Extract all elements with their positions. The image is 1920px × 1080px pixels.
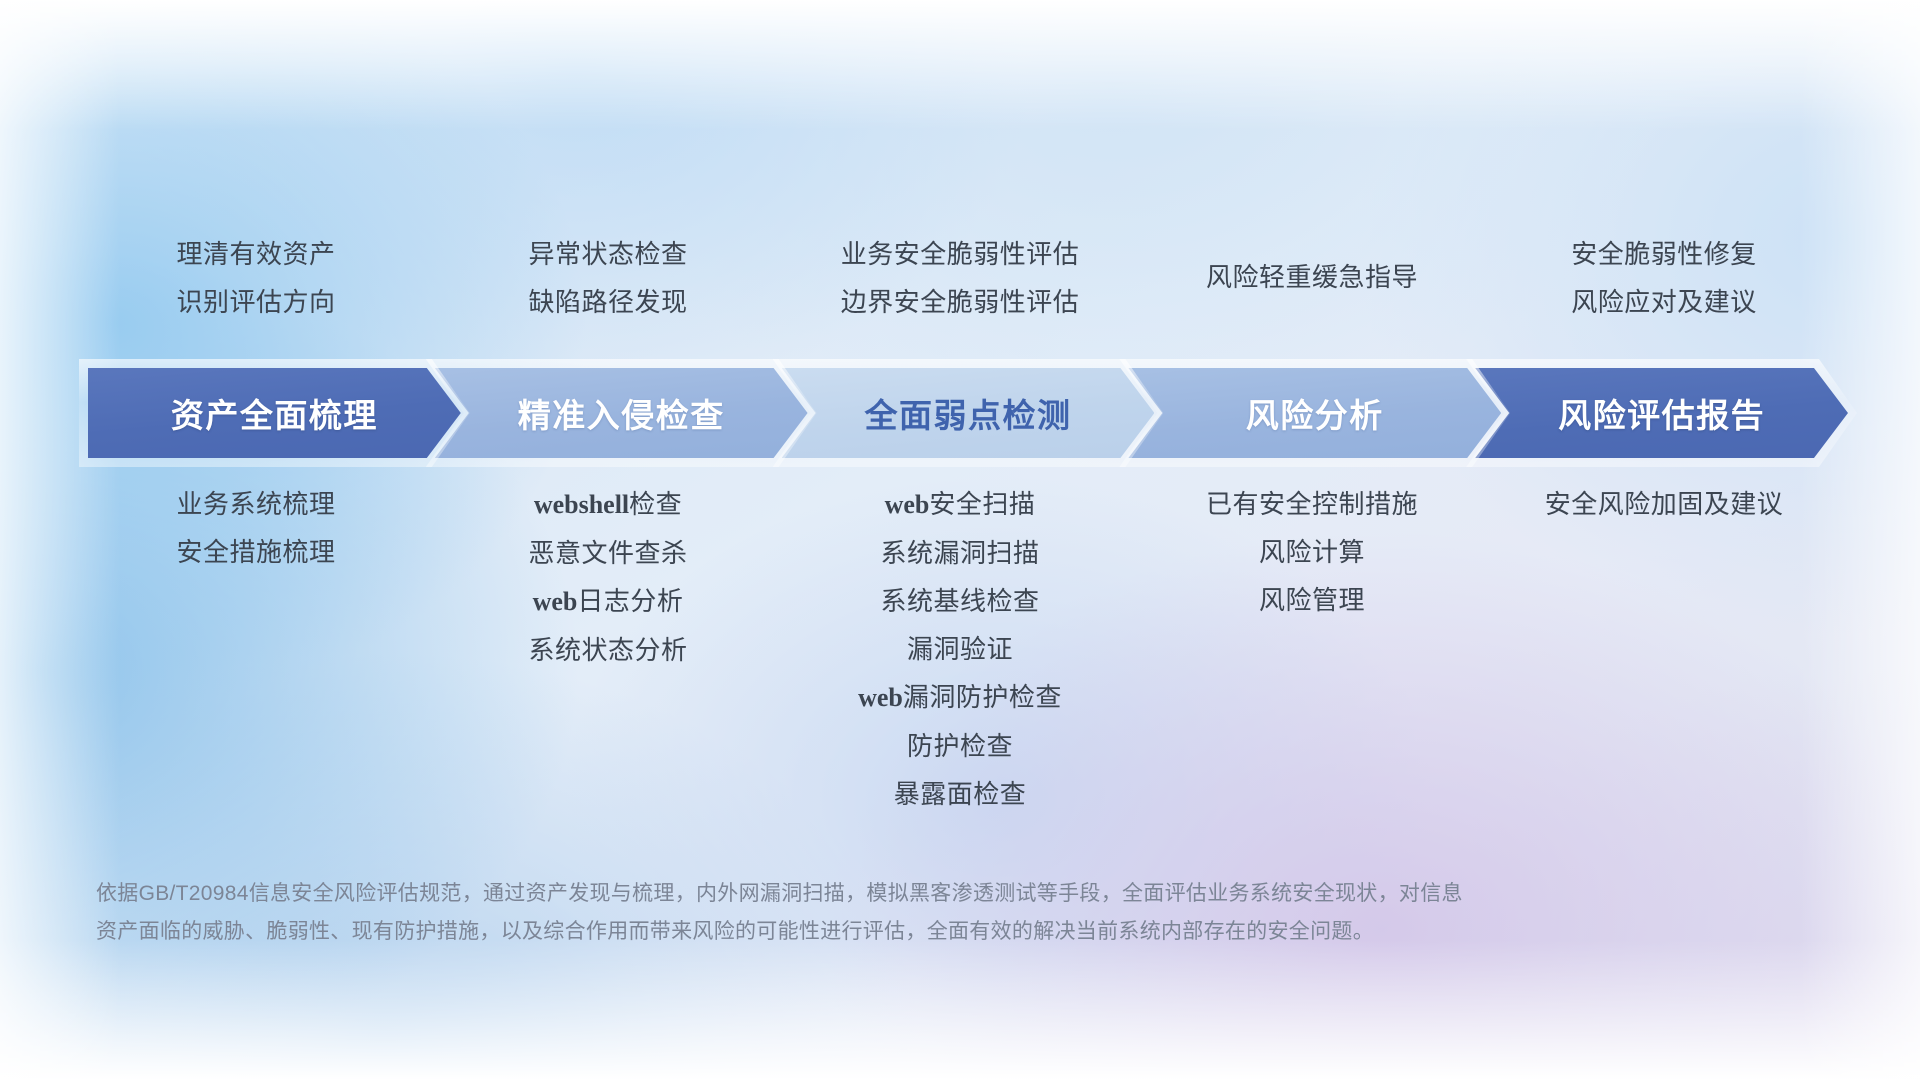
activity-text: 安全风险加固及建议 xyxy=(1545,489,1784,519)
stage-inputs-weakness-detection: 业务安全脆弱性评估边界安全脆弱性评估 xyxy=(784,230,1136,326)
stage-activity-item: 系统基线检查 xyxy=(880,577,1039,625)
stage-activities-asset-inventory: 业务系统梳理安全措施梳理 xyxy=(80,480,432,576)
process-step-weakness-detection[interactable]: 全面弱点检测 xyxy=(782,368,1155,458)
stage-activity-item: 恶意文件查杀 xyxy=(528,529,687,577)
stage-activities-weakness-detection: web安全扫描系统漏洞扫描系统基线检查漏洞验证web漏洞防护检查防护检查暴露面检… xyxy=(784,480,1136,818)
stage-activity-item: web安全扫描 xyxy=(885,480,1036,529)
activity-text: 漏洞验证 xyxy=(907,634,1013,664)
activity-text: 恶意文件查杀 xyxy=(528,538,687,568)
activity-prefix: web xyxy=(885,490,930,519)
stage-activity-item: 系统漏洞扫描 xyxy=(880,529,1039,577)
stage-input-item: 风险轻重缓急指导 xyxy=(1206,253,1418,301)
activity-text: 暴露面检查 xyxy=(894,779,1027,809)
stage-activity-item: 业务系统梳理 xyxy=(176,480,335,528)
stage-inputs-asset-inventory: 理清有效资产识别评估方向 xyxy=(80,230,432,326)
activity-text: 系统状态分析 xyxy=(528,635,687,665)
process-step-risk-analysis[interactable]: 风险分析 xyxy=(1128,368,1501,458)
stage-input-item: 识别评估方向 xyxy=(176,278,335,326)
activity-prefix: webshell xyxy=(534,490,629,519)
activity-text: 防护检查 xyxy=(907,731,1013,761)
stage-inputs-risk-analysis: 风险轻重缓急指导 xyxy=(1136,230,1488,301)
stage-input-item: 异常状态检查 xyxy=(528,230,687,278)
stage-activities-row: 业务系统梳理安全措施梳理webshell检查恶意文件查杀web日志分析系统状态分… xyxy=(80,480,1840,818)
stage-activity-item: 风险计算 xyxy=(1259,528,1365,576)
stage-activity-item: 漏洞验证 xyxy=(907,625,1013,673)
process-step-label: 精准入侵检查 xyxy=(518,389,725,437)
footer-description: 依据GB/T20984信息安全风险评估规范，通过资产发现与梳理，内外网漏洞扫描，… xyxy=(96,875,1626,951)
stage-activity-item: 安全措施梳理 xyxy=(176,528,335,576)
background-glow-bottom xyxy=(0,940,1920,1080)
activity-text: 检查 xyxy=(629,489,682,519)
stage-input-item: 安全脆弱性修复 xyxy=(1571,230,1757,278)
stage-activities-intrusion-check: webshell检查恶意文件查杀web日志分析系统状态分析 xyxy=(432,480,784,674)
activity-text: 风险管理 xyxy=(1259,585,1365,615)
stage-activity-item: 已有安全控制措施 xyxy=(1206,480,1418,528)
stage-activity-item: 暴露面检查 xyxy=(894,770,1027,818)
activity-text: 已有安全控制措施 xyxy=(1206,489,1418,519)
slide-canvas: 理清有效资产识别评估方向异常状态检查缺陷路径发现业务安全脆弱性评估边界安全脆弱性… xyxy=(0,0,1920,1080)
stage-activity-item: 安全风险加固及建议 xyxy=(1545,480,1784,528)
stage-activity-item: web日志分析 xyxy=(533,577,684,626)
stage-input-item: 业务安全脆弱性评估 xyxy=(841,230,1080,278)
stage-input-item: 缺陷路径发现 xyxy=(528,278,687,326)
activity-text: 安全措施梳理 xyxy=(176,537,335,567)
stage-activity-item: 防护检查 xyxy=(907,722,1013,770)
stage-activity-item: webshell检查 xyxy=(534,480,682,529)
footer-line: 资产面临的威胁、脆弱性、现有防护措施，以及综合作用而带来风险的可能性进行评估，全… xyxy=(96,913,1626,951)
stage-input-item: 风险应对及建议 xyxy=(1571,278,1757,326)
activity-prefix: web xyxy=(533,587,578,616)
stage-inputs-risk-report: 安全脆弱性修复风险应对及建议 xyxy=(1488,230,1840,326)
footer-line: 依据GB/T20984信息安全风险评估规范，通过资产发现与梳理，内外网漏洞扫描，… xyxy=(96,875,1626,913)
process-step-label: 资产全面梳理 xyxy=(171,389,378,437)
stage-inputs-row: 理清有效资产识别评估方向异常状态检查缺陷路径发现业务安全脆弱性评估边界安全脆弱性… xyxy=(80,230,1840,326)
activity-text: 系统基线检查 xyxy=(880,586,1039,616)
stage-input-item: 理清有效资产 xyxy=(176,230,335,278)
process-step-label: 风险评估报告 xyxy=(1558,389,1765,437)
process-step-risk-report[interactable]: 风险评估报告 xyxy=(1475,368,1848,458)
background-glow-top xyxy=(0,0,1920,130)
stage-input-item: 边界安全脆弱性评估 xyxy=(841,278,1080,326)
activity-text: 安全扫描 xyxy=(929,489,1035,519)
activity-text: 日志分析 xyxy=(577,586,683,616)
stage-activity-item: 系统状态分析 xyxy=(528,626,687,674)
activity-text: 漏洞防护检查 xyxy=(903,682,1062,712)
process-step-label: 风险分析 xyxy=(1246,389,1384,437)
stage-activities-risk-report: 安全风险加固及建议 xyxy=(1488,480,1840,528)
process-arrow-band: 资产全面梳理精准入侵检查全面弱点检测风险分析风险评估报告 xyxy=(88,368,1848,458)
stage-inputs-intrusion-check: 异常状态检查缺陷路径发现 xyxy=(432,230,784,326)
process-step-intrusion-check[interactable]: 精准入侵检查 xyxy=(435,368,808,458)
process-step-asset-inventory[interactable]: 资产全面梳理 xyxy=(88,368,461,458)
activity-text: 业务系统梳理 xyxy=(176,489,335,519)
activity-text: 系统漏洞扫描 xyxy=(880,538,1039,568)
stage-activities-risk-analysis: 已有安全控制措施风险计算风险管理 xyxy=(1136,480,1488,624)
stage-activity-item: web漏洞防护检查 xyxy=(858,673,1062,722)
activity-prefix: web xyxy=(858,683,903,712)
stage-activity-item: 风险管理 xyxy=(1259,576,1365,624)
activity-text: 风险计算 xyxy=(1259,537,1365,567)
process-step-label: 全面弱点检测 xyxy=(864,389,1071,437)
